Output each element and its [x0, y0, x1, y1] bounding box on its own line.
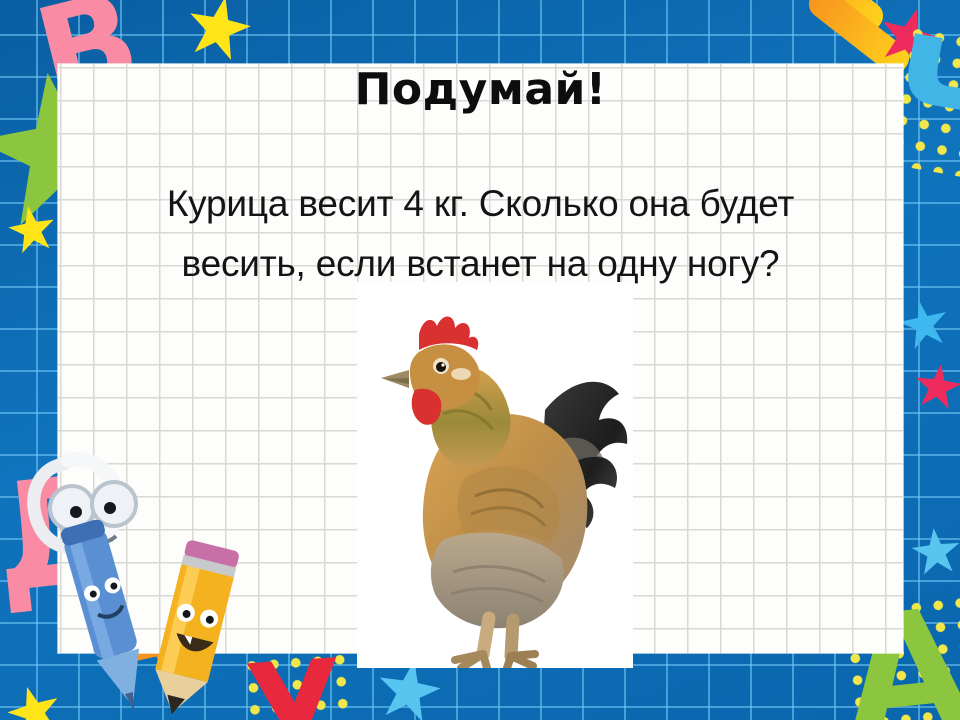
slide-canvas: В Ч А У Д Подумай! Курица весит 4 кг. Ск… — [0, 0, 960, 720]
leg-right — [511, 620, 513, 656]
chicken-photo — [357, 282, 633, 668]
chicken-illustration — [357, 282, 633, 668]
star-cyan-right-icon — [896, 296, 953, 353]
star-yellow-topleft-icon — [182, 0, 256, 64]
pencil-lead — [163, 695, 185, 717]
leg-left — [483, 618, 489, 654]
pencil-wood — [146, 669, 208, 719]
star-lightblue-right-icon — [910, 526, 960, 577]
swoosh-orange-icon — [777, 0, 888, 37]
star-yellow-bottomleft-icon — [2, 680, 66, 720]
ear-lobe — [451, 368, 471, 380]
page-title: Подумай! — [58, 64, 903, 112]
question-line-1: Курица весит 4 кг. Сколько она будет — [66, 174, 895, 234]
star-pink-topright-icon — [873, 1, 944, 71]
star-yellow-left-icon — [5, 202, 58, 255]
star-pink-right-icon — [912, 361, 960, 411]
letter-u-red-icon: У — [236, 642, 355, 720]
question-text: Курица весит 4 кг. Сколько она будет вес… — [66, 174, 895, 294]
pen-tip — [97, 649, 154, 713]
